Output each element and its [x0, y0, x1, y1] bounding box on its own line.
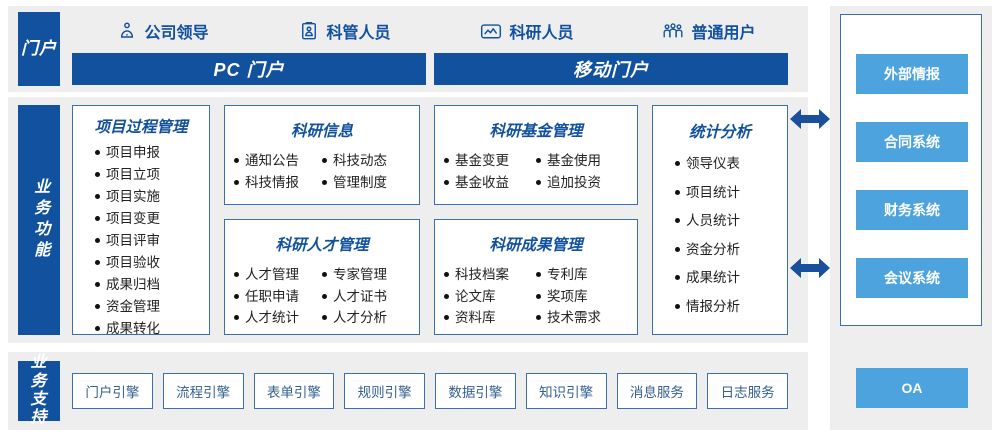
list-item[interactable]: 人员统计: [675, 214, 740, 228]
list-item[interactable]: 奖项库: [536, 290, 628, 304]
module-research-info[interactable]: 科研信息 通知公告 科技动态 科技情报 管理制度: [224, 105, 420, 205]
list-item[interactable]: 追加投资: [536, 176, 628, 190]
list-item[interactable]: 成果转化: [95, 322, 160, 336]
user-leader-icon: [117, 21, 137, 41]
list-item[interactable]: 专利库: [536, 268, 628, 282]
module-items: 项目申报 项目立项 项目实施 项目变更 项目评审 项目验收 成果归档 资金管理 …: [73, 146, 209, 336]
role-researcher[interactable]: 科研人员: [436, 19, 618, 43]
support-layer-label: 业务支持: [18, 361, 60, 421]
list-item[interactable]: 项目变更: [95, 212, 160, 226]
module-talent-management[interactable]: 科研人才管理 人才管理 专家管理 任职申请 人才证书 人才统计 人才分析: [224, 219, 420, 335]
list-item[interactable]: 项目申报: [95, 146, 160, 160]
role-normal-user[interactable]: 普通用户: [618, 19, 800, 43]
list-item[interactable]: 项目实施: [95, 190, 160, 204]
engine-chip[interactable]: 表单引擎: [254, 373, 335, 409]
function-layer-label: 业务功能: [18, 105, 60, 335]
external-system-label: 外部情报: [884, 64, 940, 84]
list-item[interactable]: 人才分析: [322, 311, 410, 325]
mobile-portal-label: 移动门户: [573, 56, 649, 82]
list-item[interactable]: 通知公告: [234, 154, 322, 168]
pc-portal-button[interactable]: PC 门户: [72, 53, 426, 85]
external-system-button[interactable]: 合同系统: [856, 122, 968, 162]
list-item[interactable]: 基金收益: [444, 176, 536, 190]
list-item[interactable]: 情报分析: [675, 300, 740, 314]
mobile-portal-button[interactable]: 移动门户: [434, 53, 788, 85]
list-item[interactable]: 论文库: [444, 290, 536, 304]
list-item[interactable]: 资金分析: [675, 243, 740, 257]
external-system-label: 财务系统: [884, 200, 940, 220]
external-system-label: 合同系统: [884, 132, 940, 152]
module-items: 人才管理 专家管理 任职申请 人才证书 人才统计 人才分析: [234, 268, 410, 325]
list-item[interactable]: 基金使用: [536, 154, 628, 168]
list-item[interactable]: 基金变更: [444, 154, 536, 168]
clipboard-person-icon: [299, 21, 319, 41]
bidirectional-arrow-top-icon: [788, 104, 832, 139]
list-item[interactable]: 项目立项: [95, 168, 160, 182]
bidirectional-arrow-bottom-icon: [788, 253, 832, 288]
architecture-diagram: 门户 公司领导 科管人员: [0, 0, 1000, 436]
module-statistics[interactable]: 统计分析 领导仪表 项目统计 人员统计 资金分析 成果统计 情报分析: [652, 105, 788, 335]
portal-layer-label: 门户: [18, 12, 60, 86]
list-item[interactable]: 任职申请: [234, 290, 322, 304]
role-label: 公司领导: [144, 19, 208, 43]
support-layer-label-text: 业务支持: [23, 354, 55, 428]
external-system-button[interactable]: 外部情报: [856, 54, 968, 94]
list-item[interactable]: 项目统计: [675, 186, 740, 200]
list-item[interactable]: 科技动态: [322, 154, 410, 168]
list-item[interactable]: 领导仪表: [675, 157, 740, 171]
module-fund-management[interactable]: 科研基金管理 基金变更 基金使用 基金收益 追加投资: [434, 105, 638, 205]
chart-frame-icon: [480, 21, 502, 41]
engine-chip[interactable]: 知识引擎: [526, 373, 607, 409]
external-system-button[interactable]: 会议系统: [856, 258, 968, 298]
list-item[interactable]: 技术需求: [536, 311, 628, 325]
list-item[interactable]: 项目验收: [95, 256, 160, 270]
oa-system-button[interactable]: OA: [856, 368, 968, 408]
role-research-admin[interactable]: 科管人员: [254, 19, 436, 43]
list-item[interactable]: 项目评审: [95, 234, 160, 248]
list-item[interactable]: 科技情报: [234, 176, 322, 190]
module-title: 统计分析: [689, 120, 751, 142]
user-group-icon: [662, 21, 684, 41]
engine-chip[interactable]: 门户引擎: [72, 373, 153, 409]
role-row: 公司领导 科管人员 科研人员: [72, 14, 800, 48]
engine-chip[interactable]: 日志服务: [707, 373, 788, 409]
pc-portal-label: PC 门户: [213, 56, 284, 82]
engine-chip[interactable]: 流程引擎: [163, 373, 244, 409]
list-item[interactable]: 成果统计: [675, 271, 740, 285]
list-item[interactable]: 人才管理: [234, 268, 322, 282]
module-items: 通知公告 科技动态 科技情报 管理制度: [234, 154, 410, 189]
module-items: 科技档案 专利库 论文库 奖项库 资料库 技术需求: [444, 268, 628, 325]
module-achievement-management[interactable]: 科研成果管理 科技档案 专利库 论文库 奖项库 资料库 技术需求: [434, 219, 638, 335]
external-system-label: 会议系统: [884, 268, 940, 288]
module-title: 科研信息: [291, 119, 353, 141]
list-item[interactable]: 成果归档: [95, 278, 160, 292]
module-items: 领导仪表 项目统计 人员统计 资金分析 成果统计 情报分析: [653, 157, 787, 313]
module-title: 科研基金管理: [489, 119, 582, 141]
engine-chip[interactable]: 消息服务: [617, 373, 698, 409]
list-item[interactable]: 资料库: [444, 311, 536, 325]
module-title: 科研成果管理: [489, 233, 582, 255]
engine-chip[interactable]: 规则引擎: [344, 373, 425, 409]
role-company-leader[interactable]: 公司领导: [72, 19, 254, 43]
list-item[interactable]: 人才证书: [322, 290, 410, 304]
engine-chip[interactable]: 数据引擎: [435, 373, 516, 409]
function-layer-label-text: 业务功能: [30, 178, 48, 262]
role-label: 科研人员: [509, 19, 573, 43]
list-item[interactable]: 科技档案: [444, 268, 536, 282]
list-item[interactable]: 专家管理: [322, 268, 410, 282]
role-label: 普通用户: [691, 19, 755, 43]
role-label: 科管人员: [326, 19, 390, 43]
portal-layer-label-text: 门户: [21, 39, 57, 59]
module-title: 科研人才管理: [275, 233, 368, 255]
module-items: 基金变更 基金使用 基金收益 追加投资: [444, 154, 628, 189]
list-item[interactable]: 资金管理: [95, 300, 160, 314]
engine-chip-row: 门户引擎 流程引擎 表单引擎 规则引擎 数据引擎 知识引擎 消息服务 日志服务: [72, 373, 788, 409]
list-item[interactable]: 管理制度: [322, 176, 410, 190]
list-item[interactable]: 人才统计: [234, 311, 322, 325]
oa-system-label: OA: [902, 380, 923, 396]
external-system-button[interactable]: 财务系统: [856, 190, 968, 230]
module-title: 项目过程管理: [94, 115, 187, 137]
module-project-process[interactable]: 项目过程管理 项目申报 项目立项 项目实施 项目变更 项目评审 项目验收 成果归…: [72, 105, 210, 335]
